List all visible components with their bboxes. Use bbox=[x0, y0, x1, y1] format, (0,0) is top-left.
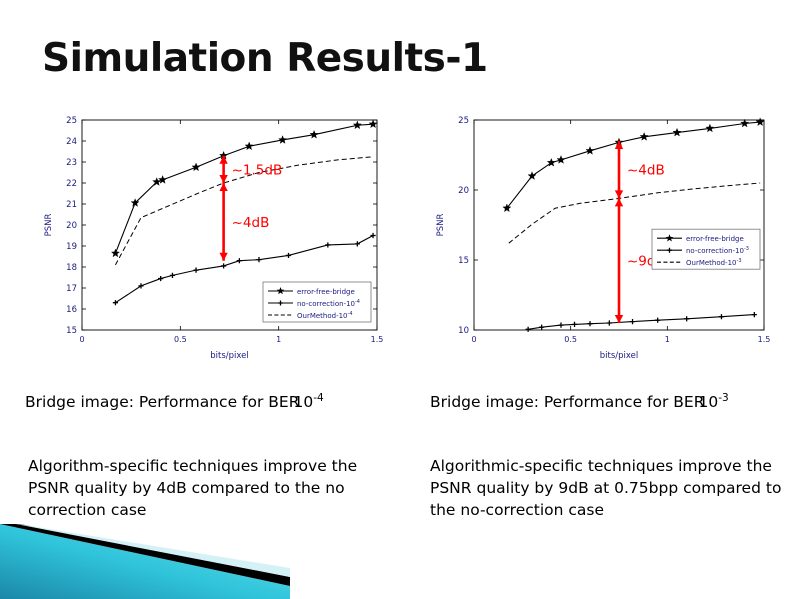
caption-right: Bridge image: Performance for BER10-3 bbox=[430, 392, 729, 411]
legend-label-2: OurMethod-10-4 bbox=[297, 311, 353, 320]
body-text-right: Algorithmic-specific techniques improve … bbox=[430, 455, 790, 521]
caption-left-exponent: -4 bbox=[313, 392, 324, 404]
legend-label-1: no-correction-10-4 bbox=[297, 299, 360, 308]
caption-left-exponent-group: 10-4 bbox=[293, 393, 323, 411]
x-tick-label: 0.5 bbox=[174, 335, 187, 344]
y-tick-label: 15 bbox=[66, 326, 77, 336]
y-axis-label: PSNR bbox=[436, 214, 446, 237]
x-tick-label: 1 bbox=[665, 335, 670, 344]
y-tick-label: 25 bbox=[458, 116, 469, 126]
caption-right-exponent-group: 10-3 bbox=[698, 393, 728, 411]
annotation-label: ~1.5dB bbox=[232, 162, 283, 178]
annotation-label: ~4dB bbox=[627, 163, 665, 179]
body-text-left: Algorithm-specific techniques improve th… bbox=[28, 455, 398, 521]
x-axis-label: bits/pixel bbox=[210, 351, 249, 361]
legend-label-exponent: -4 bbox=[355, 299, 360, 305]
legend-label-0: error-free-bridge bbox=[297, 288, 355, 296]
chart-legend: error-free-bridgeno-correction-10-4OurMe… bbox=[263, 282, 371, 322]
y-tick-label: 22 bbox=[66, 179, 77, 189]
footer-decoration bbox=[0, 524, 290, 599]
y-tick-label: 15 bbox=[458, 256, 469, 266]
y-tick-label: 21 bbox=[66, 200, 77, 210]
chart-right-canvas: 00.511.510152025bits/pixelPSNR~4dB~9dBer… bbox=[432, 108, 772, 370]
y-tick-label: 16 bbox=[66, 305, 77, 315]
y-tick-label: 20 bbox=[66, 221, 77, 231]
legend-label-exponent: -3 bbox=[744, 246, 749, 252]
page-title: Simulation Results-1 bbox=[42, 36, 488, 81]
legend-label-1: no-correction-10-3 bbox=[686, 246, 749, 255]
caption-left: Bridge image: Performance for BER10-4 bbox=[25, 392, 324, 411]
y-tick-label: 25 bbox=[66, 116, 77, 126]
y-tick-label: 24 bbox=[66, 137, 77, 147]
caption-left-main: Bridge image: Performance for BER bbox=[25, 393, 299, 411]
y-tick-label: 20 bbox=[458, 186, 469, 196]
y-tick-label: 10 bbox=[458, 326, 469, 336]
legend-label-exponent: -3 bbox=[737, 258, 742, 264]
x-tick-label: 1.5 bbox=[758, 335, 771, 344]
x-tick-label: 1.5 bbox=[371, 335, 384, 344]
footer-decoration-shape bbox=[0, 524, 290, 599]
legend-label-exponent: -4 bbox=[348, 311, 353, 317]
legend-label-0: error-free-bridge bbox=[686, 235, 744, 243]
x-axis-label: bits/pixel bbox=[600, 351, 639, 361]
y-tick-label: 17 bbox=[66, 284, 77, 294]
x-tick-label: 0 bbox=[79, 335, 84, 344]
caption-left-base: 10 bbox=[293, 393, 313, 411]
chart-legend: error-free-bridgeno-correction-10-3OurMe… bbox=[652, 229, 760, 269]
chart-left: 00.511.51516171819202122232425bits/pixel… bbox=[40, 108, 385, 370]
y-tick-label: 18 bbox=[66, 263, 77, 273]
chart-right: 00.511.510152025bits/pixelPSNR~4dB~9dBer… bbox=[432, 108, 772, 370]
y-tick-label: 23 bbox=[66, 158, 77, 168]
y-tick-label: 19 bbox=[66, 242, 77, 252]
x-tick-label: 1 bbox=[276, 335, 281, 344]
x-tick-label: 0.5 bbox=[564, 335, 577, 344]
x-tick-label: 0 bbox=[471, 335, 476, 344]
caption-right-main: Bridge image: Performance for BER bbox=[430, 393, 704, 411]
legend-label-2: OurMethod-10-3 bbox=[686, 258, 742, 267]
y-axis-label: PSNR bbox=[44, 214, 54, 237]
caption-right-exponent: -3 bbox=[718, 392, 729, 404]
chart-left-canvas: 00.511.51516171819202122232425bits/pixel… bbox=[40, 108, 385, 370]
caption-right-base: 10 bbox=[698, 393, 718, 411]
annotation-label: ~4dB bbox=[232, 215, 270, 231]
